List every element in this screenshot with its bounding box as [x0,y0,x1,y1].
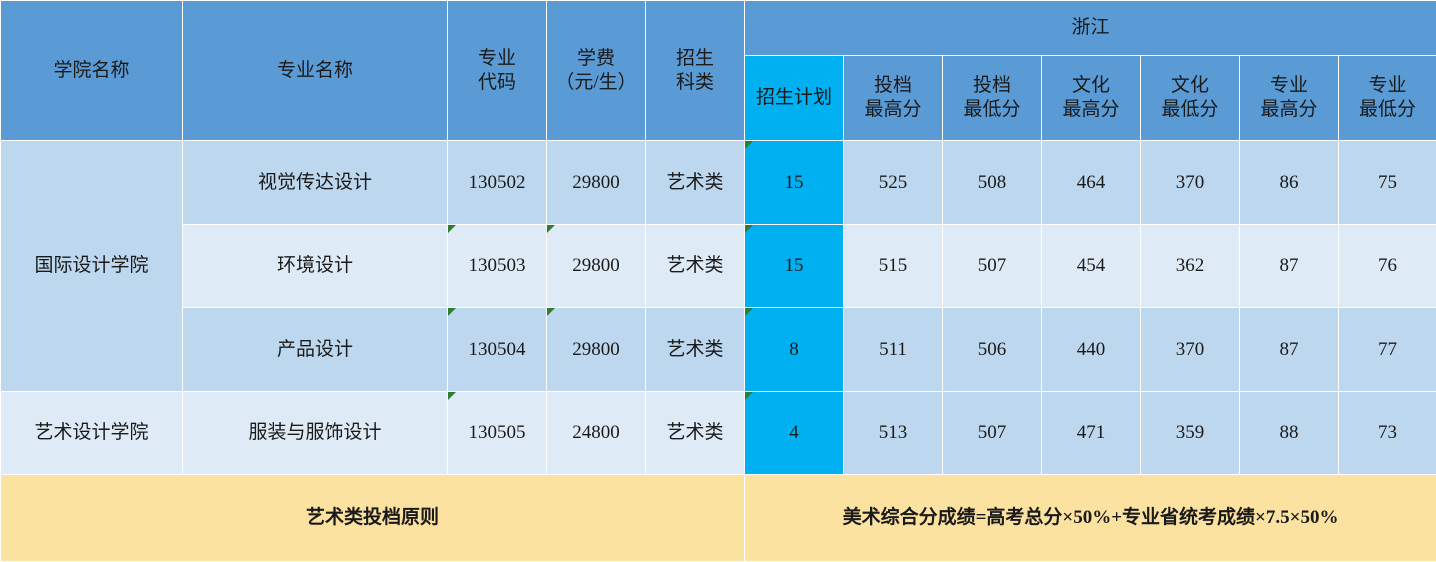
cell-major: 产品设计 [183,308,448,392]
header-wh-max-line1: 文化 [1044,74,1138,98]
header-major-label: 专业名称 [185,59,445,83]
table-row[interactable]: 艺术设计学院 服装与服饰设计 130505 24800 艺术类 4 513 [1,392,1436,475]
header-td-max-line2: 最高分 [846,98,940,122]
header-enrollment-plan-label: 招生计划 [747,86,841,110]
cell-category: 艺术类 [646,308,745,392]
error-marker-icon [448,308,456,316]
table-row[interactable]: 国际设计学院 视觉传达设计 130502 29800 艺术类 15 525 [1,141,1436,225]
zy-max-value: 86 [1280,172,1299,193]
tuition-value: 29800 [572,255,620,276]
tuition-value: 29800 [572,339,620,360]
zy-min-value: 73 [1378,422,1397,443]
header-category-line1: 招生 [648,47,742,71]
zy-max-value: 87 [1280,339,1299,360]
cell-td-min: 507 [943,392,1042,475]
zy-max-value: 88 [1280,422,1299,443]
enrollment-plan-value: 8 [789,339,799,360]
cell-wh-max: 440 [1042,308,1141,392]
footer-principle-label: 艺术类投档原则 [306,507,439,528]
major-code-value: 130502 [469,172,526,193]
cell-enrollment-plan: 15 [745,225,844,308]
cell-tuition: 29800 [547,225,646,308]
error-marker-icon [547,225,555,233]
cell-td-min: 506 [943,308,1042,392]
cell-major-code: 130504 [448,308,547,392]
table-row[interactable]: 产品设计 130504 29800 艺术类 8 511 506 [1,308,1436,392]
footer-formula-cell: 美术综合分成绩=高考总分×50%+专业省统考成绩×7.5×50% [745,475,1436,562]
header-wh-min: 文化 最低分 [1141,56,1240,141]
cell-tuition: 29800 [547,141,646,225]
cell-wh-min: 362 [1141,225,1240,308]
header-province-group: 浙江 [745,1,1436,56]
wh-max-value: 440 [1077,339,1106,360]
cell-zy-max: 87 [1240,308,1339,392]
cell-wh-max: 464 [1042,141,1141,225]
enrollment-plan-value: 4 [789,422,799,443]
cell-td-max: 515 [844,225,943,308]
cell-category: 艺术类 [646,141,745,225]
error-marker-icon [745,225,753,233]
zy-min-value: 77 [1378,339,1397,360]
cell-major: 环境设计 [183,225,448,308]
cell-td-max: 513 [844,392,943,475]
cell-category: 艺术类 [646,225,745,308]
cell-wh-max: 471 [1042,392,1141,475]
header-institution: 学院名称 [1,1,183,141]
cell-td-min: 508 [943,141,1042,225]
header-major-code-line2: 代码 [450,71,544,95]
cell-zy-max: 87 [1240,225,1339,308]
admissions-plan-table: 学院名称 专业名称 专业 代码 学费 （元/生） 招生 科类 浙江 [0,0,1436,562]
cell-wh-max: 454 [1042,225,1141,308]
cell-major-code: 130503 [448,225,547,308]
zy-min-value: 75 [1378,172,1397,193]
error-marker-icon [745,308,753,316]
header-zy-max-line2: 最高分 [1242,98,1336,122]
footer-principle-label-cell: 艺术类投档原则 [1,475,745,562]
header-wh-min-line2: 最低分 [1143,98,1237,122]
cell-td-max: 511 [844,308,943,392]
cell-zy-min: 77 [1339,308,1436,392]
td-min-value: 506 [978,339,1007,360]
header-row-top: 学院名称 专业名称 专业 代码 学费 （元/生） 招生 科类 浙江 [1,1,1436,56]
header-category-line2: 科类 [648,71,742,95]
header-td-min-line2: 最低分 [945,98,1039,122]
cell-major-code: 130502 [448,141,547,225]
header-major-code-line1: 专业 [450,47,544,71]
header-td-max: 投档 最高分 [844,56,943,141]
header-zy-min-line1: 专业 [1341,74,1434,98]
cell-major: 服装与服饰设计 [183,392,448,475]
table-row[interactable]: 环境设计 130503 29800 艺术类 15 515 507 [1,225,1436,308]
header-category: 招生 科类 [646,1,745,141]
category-value: 艺术类 [666,255,723,276]
header-td-min: 投档 最低分 [943,56,1042,141]
error-marker-icon [745,141,753,149]
header-wh-max: 文化 最高分 [1042,56,1141,141]
cell-institution: 国际设计学院 [1,141,183,392]
major-code-value: 130504 [469,339,526,360]
error-marker-icon [448,392,456,400]
tuition-value: 29800 [572,172,620,193]
cell-zy-min: 73 [1339,392,1436,475]
admissions-table-container: 学院名称 专业名称 专业 代码 学费 （元/生） 招生 科类 浙江 [0,0,1436,561]
header-wh-max-line2: 最高分 [1044,98,1138,122]
header-major: 专业名称 [183,1,448,141]
category-value: 艺术类 [666,172,723,193]
cell-zy-min: 75 [1339,141,1436,225]
cell-category: 艺术类 [646,392,745,475]
header-zy-min-line2: 最低分 [1341,98,1434,122]
td-max-value: 515 [879,255,908,276]
header-tuition-line2: （元/生） [549,71,643,95]
zy-max-value: 87 [1280,255,1299,276]
cell-enrollment-plan: 15 [745,141,844,225]
cell-zy-max: 86 [1240,141,1339,225]
header-td-min-line1: 投档 [945,74,1039,98]
major-name: 视觉传达设计 [258,172,372,193]
cell-td-max: 525 [844,141,943,225]
error-marker-icon [547,308,555,316]
cell-tuition: 29800 [547,308,646,392]
cell-td-min: 507 [943,225,1042,308]
error-marker-icon [448,225,456,233]
enrollment-plan-value: 15 [785,172,804,193]
cell-zy-min: 76 [1339,225,1436,308]
cell-major-code: 130505 [448,392,547,475]
category-value: 艺术类 [666,339,723,360]
header-wh-min-line1: 文化 [1143,74,1237,98]
td-max-value: 525 [879,172,908,193]
major-code-value: 130505 [469,422,526,443]
institution-name: 艺术设计学院 [34,422,148,443]
cell-wh-min: 370 [1141,308,1240,392]
td-min-value: 508 [978,172,1007,193]
wh-max-value: 454 [1077,255,1106,276]
header-td-max-line1: 投档 [846,74,940,98]
error-marker-icon [745,392,753,400]
enrollment-plan-value: 15 [785,255,804,276]
wh-max-value: 471 [1077,422,1106,443]
wh-min-value: 359 [1176,422,1205,443]
wh-min-value: 362 [1176,255,1205,276]
cell-enrollment-plan: 4 [745,392,844,475]
category-value: 艺术类 [666,422,723,443]
header-tuition: 学费 （元/生） [547,1,646,141]
wh-max-value: 464 [1077,172,1106,193]
cell-wh-min: 359 [1141,392,1240,475]
cell-enrollment-plan: 8 [745,308,844,392]
header-enrollment-plan: 招生计划 [745,56,844,141]
wh-min-value: 370 [1176,339,1205,360]
td-min-value: 507 [978,422,1007,443]
td-max-value: 513 [879,422,908,443]
major-name: 服装与服饰设计 [248,422,381,443]
header-province-label: 浙江 [747,16,1434,40]
header-zy-max-line1: 专业 [1242,74,1336,98]
major-name: 环境设计 [277,255,353,276]
header-tuition-line1: 学费 [549,47,643,71]
header-major-code: 专业 代码 [448,1,547,141]
cell-zy-max: 88 [1240,392,1339,475]
header-institution-label: 学院名称 [3,59,180,83]
major-name: 产品设计 [277,339,353,360]
td-min-value: 507 [978,255,1007,276]
major-code-value: 130503 [469,255,526,276]
header-zy-min: 专业 最低分 [1339,56,1436,141]
footer-row: 艺术类投档原则 美术综合分成绩=高考总分×50%+专业省统考成绩×7.5×50% [1,475,1436,562]
zy-min-value: 76 [1378,255,1397,276]
cell-major: 视觉传达设计 [183,141,448,225]
footer-formula-text: 美术综合分成绩=高考总分×50%+专业省统考成绩×7.5×50% [843,507,1339,528]
tuition-value: 24800 [572,422,620,443]
td-max-value: 511 [879,339,907,360]
cell-tuition: 24800 [547,392,646,475]
wh-min-value: 370 [1176,172,1205,193]
header-zy-max: 专业 最高分 [1240,56,1339,141]
institution-name: 国际设计学院 [34,255,148,276]
cell-wh-min: 370 [1141,141,1240,225]
cell-institution: 艺术设计学院 [1,392,183,475]
